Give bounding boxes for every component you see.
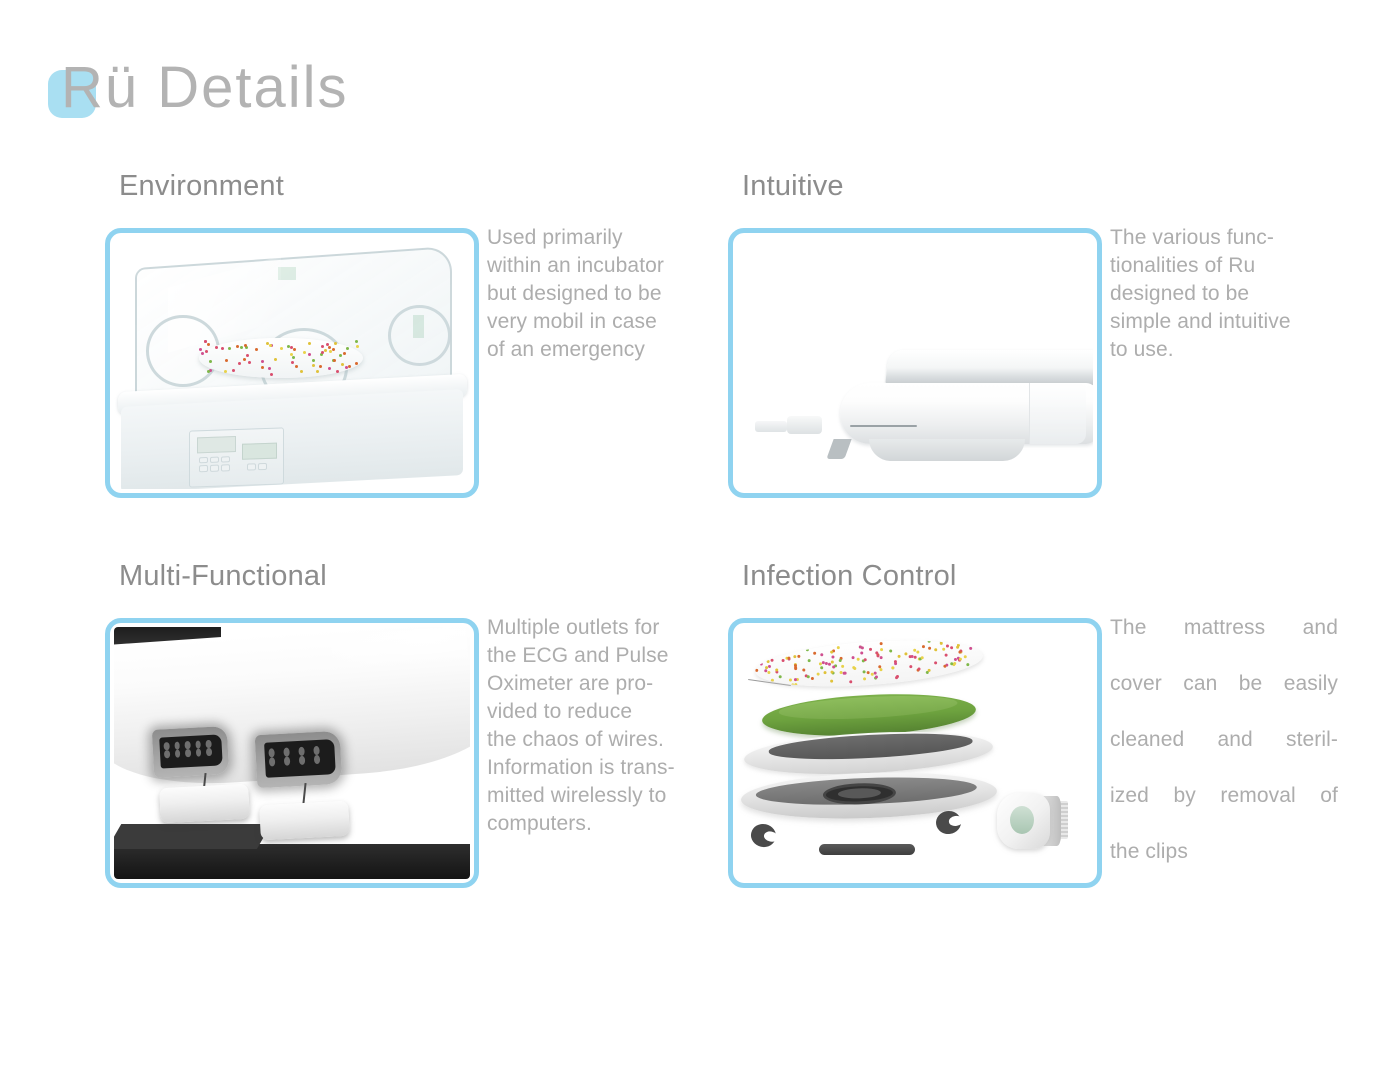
mattress-in-incubator <box>199 338 363 378</box>
incubator-photo <box>114 237 470 489</box>
feature-heading: Environment <box>119 170 284 203</box>
incubator-control-panel <box>189 427 284 488</box>
pulse-oximeter-port <box>255 731 343 788</box>
caption-line: ized by removal of <box>1110 782 1338 838</box>
feature-intuitive: Intuitive <box>728 170 1352 550</box>
caption-line: simple and intuitive <box>1110 308 1338 336</box>
caption-line: the clips <box>1110 838 1338 866</box>
caption-line: mitted wirelessly to <box>487 782 719 810</box>
caption-line: within an incubator <box>487 252 719 280</box>
caption-line: The mattress and <box>1110 614 1338 670</box>
caption-line: designed to be <box>1110 280 1338 308</box>
device-connector-body <box>787 416 823 434</box>
caption-line: tionalities of Ru <box>1110 252 1338 280</box>
support-bar <box>819 844 915 855</box>
caption-line: The various func- <box>1110 224 1338 252</box>
port-cover-left <box>159 783 250 823</box>
feature-body: Multiple outlets for the ECG and Pulse O… <box>105 618 729 898</box>
caption-line: Multiple outlets for <box>487 614 719 642</box>
feature-caption-infection-control: The mattress and cover can be easily cle… <box>1110 614 1338 866</box>
feature-body: The mattress and cover can be easily cle… <box>728 618 1352 898</box>
feature-caption-multi-functional: Multiple outlets for the ECG and Pulse O… <box>487 614 719 838</box>
image-panel-infection-control <box>728 618 1102 888</box>
feature-caption-intuitive: The various func- tionalities of Ru desi… <box>1110 224 1338 364</box>
device-connector-tip <box>755 421 787 432</box>
device-base-shadow <box>869 439 1026 462</box>
feature-row-2: Multi-Functional <box>0 560 1400 950</box>
caption-line: vided to reduce <box>487 698 719 726</box>
caption-line: computers. <box>487 810 719 838</box>
feature-multi-functional: Multi-Functional <box>105 560 729 940</box>
tray-layer <box>743 726 994 779</box>
feature-heading: Multi-Functional <box>119 560 327 593</box>
device-upper-shell <box>885 350 1093 385</box>
feature-heading: Infection Control <box>742 560 957 593</box>
exploded-mattress-render <box>737 627 1093 879</box>
caption-line: to use. <box>1110 336 1338 364</box>
caption-line: Used primarily <box>487 224 719 252</box>
image-panel-multi-functional <box>105 618 479 888</box>
caption-line: the chaos of wires. <box>487 726 719 754</box>
device-profile-render <box>737 237 1093 489</box>
caption-line: the ECG and Pulse <box>487 642 719 670</box>
feature-heading: Intuitive <box>742 170 844 203</box>
clip-left <box>749 821 778 848</box>
page-title: Rü Details <box>61 48 349 128</box>
incubator-port-right <box>388 305 451 366</box>
image-panel-intuitive <box>728 228 1102 498</box>
mattress-cover-layer <box>754 634 984 693</box>
feature-caption-environment: Used primarily within an incubator but d… <box>487 224 719 364</box>
device-main-body <box>840 383 1093 443</box>
caption-line: Information is trans- <box>487 754 719 782</box>
caption-line: very mobil in case <box>487 308 719 336</box>
clip-right <box>935 809 963 835</box>
feature-body: Used primarily within an incubator but d… <box>105 228 729 508</box>
caption-line: cover can be easily <box>1110 670 1338 726</box>
caption-line: but designed to be <box>487 280 719 308</box>
port-cover-right <box>259 801 350 841</box>
image-panel-environment <box>105 228 479 498</box>
feature-body: The various func- tionalities of Ru desi… <box>728 228 1352 508</box>
caption-line: Oximeter are pro- <box>487 670 719 698</box>
sensor-pod <box>997 793 1050 848</box>
ecg-port <box>152 726 229 778</box>
page-header: Rü Details <box>48 48 648 128</box>
feature-infection-control: Infection Control <box>728 560 1352 940</box>
incubator-base <box>121 389 463 489</box>
feature-row-1: Environment <box>0 170 1400 560</box>
connector-ports-photo <box>114 627 470 879</box>
caption-line: of an emergency <box>487 336 719 364</box>
caption-line: cleaned and steril- <box>1110 726 1338 782</box>
device-latch-tab <box>826 439 851 459</box>
feature-environment: Environment <box>105 170 729 550</box>
feature-grid: Environment <box>0 170 1400 950</box>
